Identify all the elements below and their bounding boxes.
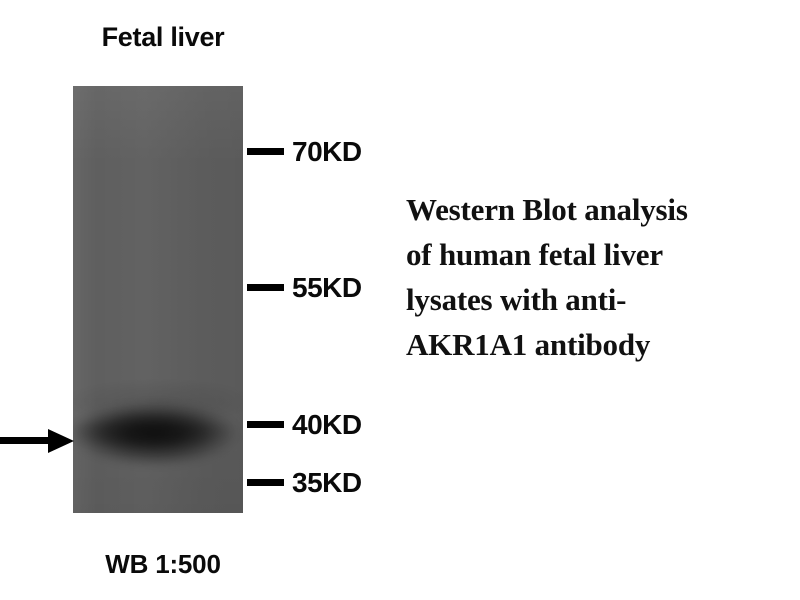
mw-tick-icon	[247, 148, 284, 155]
western-blot-figure: Fetal liver 70KD 55KD 40KD 35KD WB 1:500…	[0, 0, 800, 600]
mw-label: 35KD	[292, 465, 362, 501]
protein-band-core	[76, 411, 239, 451]
caption-line: AKR1A1 antibody	[406, 322, 800, 367]
dilution-label: WB 1:500	[73, 549, 253, 580]
caption-line: lysates with anti-	[406, 277, 800, 322]
caption-line: Western Blot analysis	[406, 187, 800, 232]
arrow-head	[48, 429, 74, 453]
blot-lane	[73, 86, 243, 513]
lane-label-fetal-liver: Fetal liver	[73, 22, 253, 53]
mw-tick-icon	[247, 479, 284, 486]
mw-label: 70KD	[292, 134, 362, 170]
caption-line: of human fetal liver	[406, 232, 800, 277]
mw-label: 55KD	[292, 270, 362, 306]
lane-faint-smudge	[73, 378, 243, 424]
mw-tick-icon	[247, 284, 284, 291]
arrow-shaft	[0, 437, 54, 444]
band-pointer-arrow-icon	[0, 429, 76, 453]
mw-tick-icon	[247, 421, 284, 428]
protein-band-akr1a1	[73, 398, 243, 470]
figure-caption: Western Blot analysis of human fetal liv…	[406, 187, 800, 367]
lane-shading	[73, 86, 243, 513]
mw-label: 40KD	[292, 407, 362, 443]
